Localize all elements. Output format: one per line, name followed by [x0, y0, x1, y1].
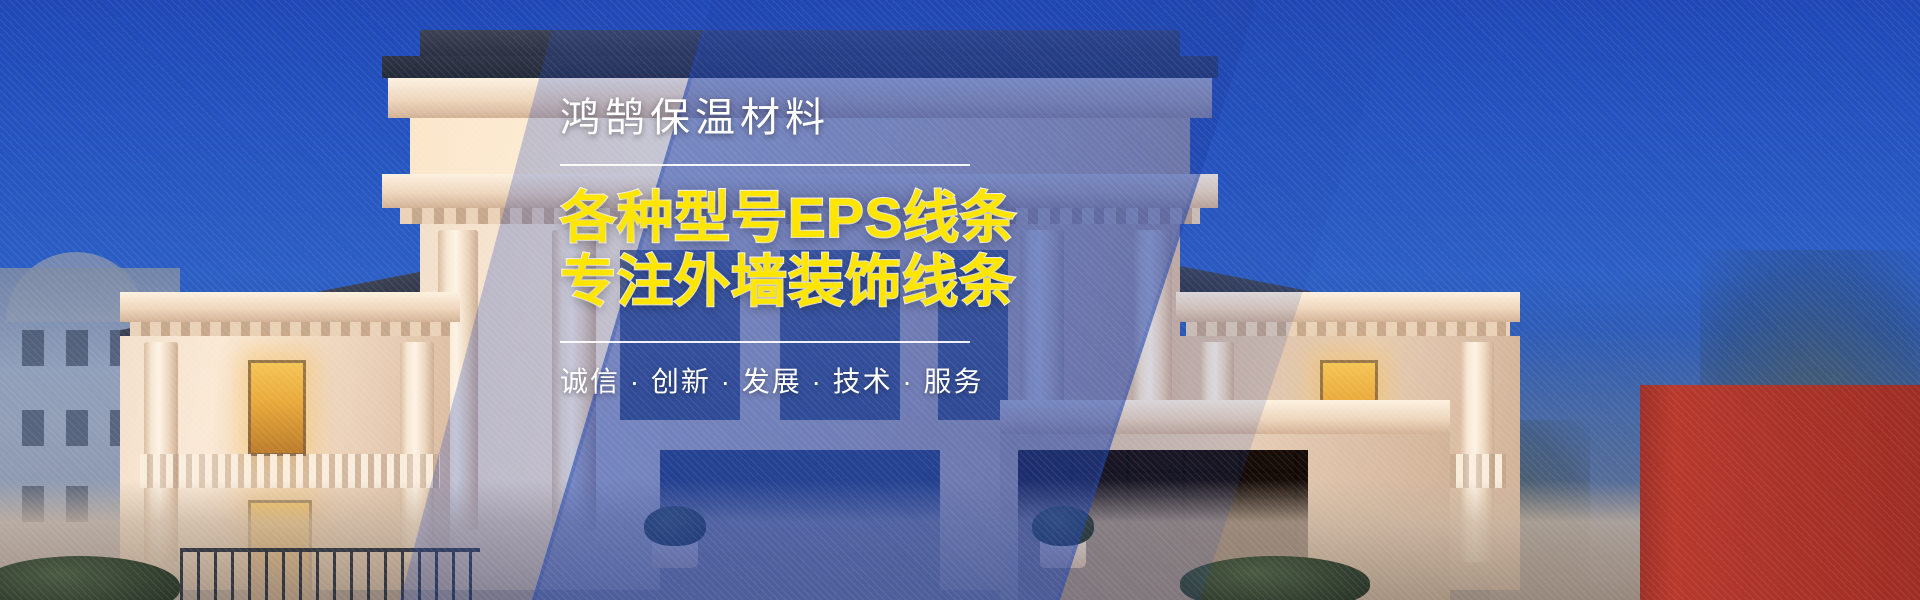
tagline: 诚信 · 创新 · 发展 · 技术 · 服务 — [560, 365, 1000, 399]
distant-window — [22, 330, 44, 366]
distant-window — [22, 410, 44, 446]
distant-window — [66, 410, 88, 446]
roof-center-top — [420, 30, 1180, 56]
red-wall-panel — [1640, 385, 1920, 600]
hero-banner: 鸿鹄保温材料 各种型号EPS线条 专注外墙装饰线条 诚信 · 创新 · 发展 ·… — [0, 0, 1920, 600]
shrub-left — [644, 506, 706, 546]
banner-text-block: 鸿鹄保温材料 各种型号EPS线条 专注外墙装饰线条 诚信 · 创新 · 发展 ·… — [560, 96, 1000, 398]
dentil-band-right — [1186, 322, 1510, 336]
window-frame-left-upper — [248, 360, 306, 456]
headline-line-2: 专注外墙装饰线条 — [560, 250, 1000, 314]
distant-window — [66, 330, 88, 366]
fence-railing — [180, 548, 480, 600]
headline-line-1: 各种型号EPS线条 — [560, 186, 1000, 250]
brand-name: 鸿鹄保温材料 — [560, 96, 1000, 140]
divider-top — [560, 164, 970, 166]
divider-bottom — [560, 341, 970, 343]
cornice-left-wing — [120, 292, 460, 322]
dentil-band-left — [130, 322, 450, 336]
roof-center-eave — [382, 56, 1218, 78]
shrub-right — [1032, 506, 1094, 546]
cornice-right-wing — [1176, 292, 1520, 322]
cornice-garage — [1000, 400, 1450, 434]
